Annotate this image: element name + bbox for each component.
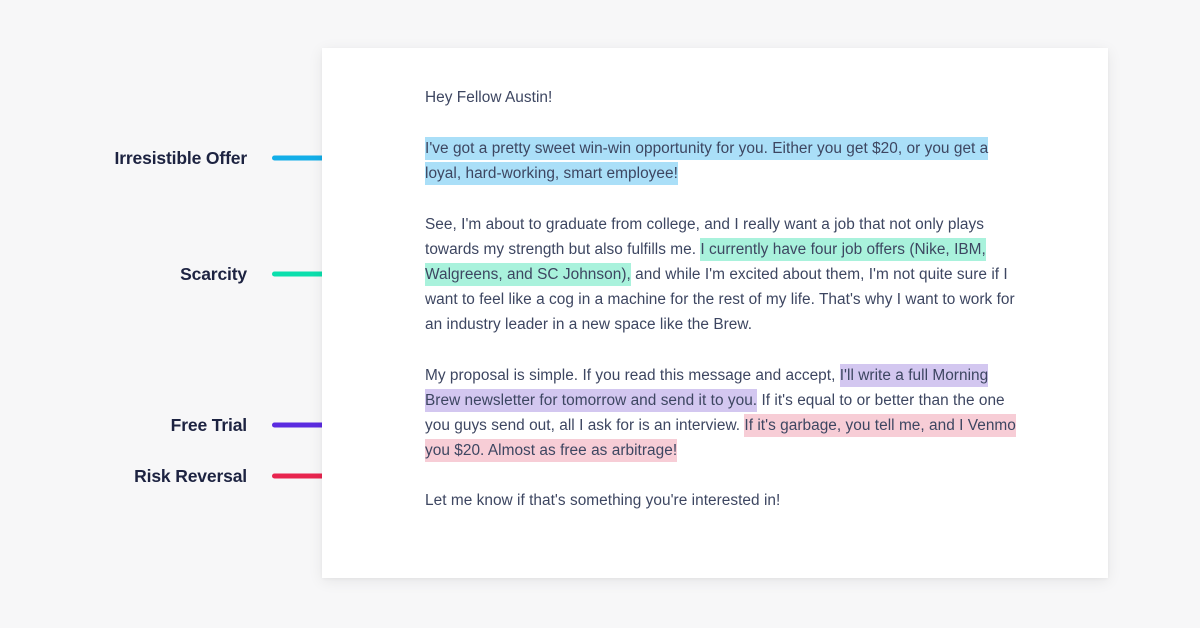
annotation-label-scarcity: Scarcity — [0, 264, 247, 285]
letter-paragraph-2: See, I'm about to graduate from college,… — [425, 212, 1025, 338]
letter-body: Hey Fellow Austin! I've got a pretty swe… — [425, 85, 1025, 514]
letter-card: Hey Fellow Austin! I've got a pretty swe… — [322, 48, 1108, 578]
annotation-label-irresistible-offer: Irresistible Offer — [0, 148, 247, 169]
annotation-label-risk-reversal: Risk Reversal — [0, 466, 247, 487]
letter-closing: Let me know if that's something you're i… — [425, 488, 1025, 513]
annotation-label-free-trial: Free Trial — [0, 415, 247, 436]
paragraph-3-before: My proposal is simple. If you read this … — [425, 367, 840, 384]
letter-greeting: Hey Fellow Austin! — [425, 85, 1025, 110]
letter-paragraph-1: I've got a pretty sweet win-win opportun… — [425, 136, 1025, 186]
letter-paragraph-3: My proposal is simple. If you read this … — [425, 363, 1025, 464]
irresistible-offer-highlight: I've got a pretty sweet win-win opportun… — [425, 137, 988, 185]
